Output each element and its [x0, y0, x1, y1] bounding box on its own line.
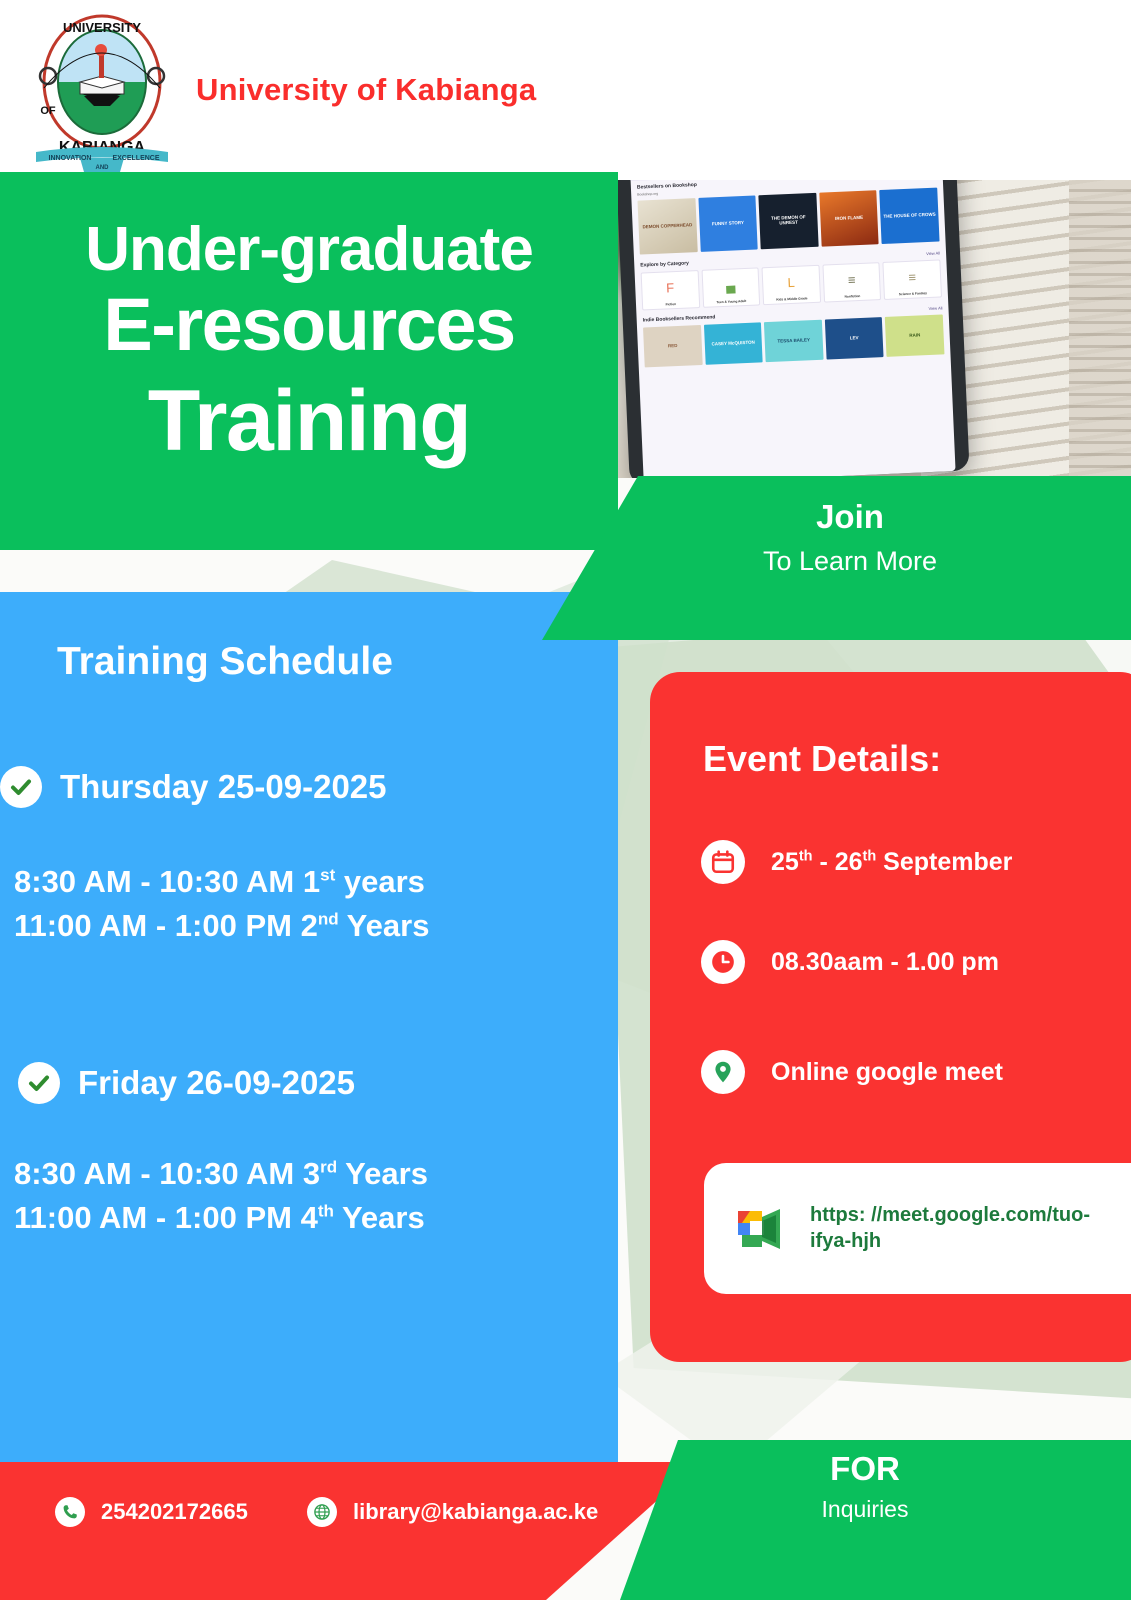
event-time-text: 08.30aam - 1.00 pm [771, 948, 999, 977]
contact-email[interactable]: library@kabianga.ac.ke [307, 1497, 598, 1527]
university-name: University of Kabianga [196, 72, 536, 108]
schedule-times-friday: 8:30 AM - 10:30 AM 3rd Years 11:00 AM - … [14, 1152, 428, 1240]
for-label: FOR [700, 1450, 1030, 1488]
explore-category-title: Explore by Category [640, 260, 689, 268]
title-line-1: Under-graduate [0, 214, 618, 285]
schedule-day-thursday: Thursday 25-09-2025 [0, 766, 387, 808]
meet-link-card[interactable]: https: //meet.google.com/tuo-ifya-hjh [704, 1163, 1131, 1294]
join-heading: Join [640, 498, 1060, 536]
check-icon [0, 766, 42, 808]
svg-text:EXCELLENCE: EXCELLENCE [112, 155, 159, 162]
schedule-times-thursday: 8:30 AM - 10:30 AM 1st years 11:00 AM - … [14, 860, 429, 948]
google-meet-icon [734, 1207, 788, 1251]
title-line-2: E-resources [0, 282, 618, 367]
event-date-text: 25th - 26th September [771, 848, 1012, 877]
calendar-icon [701, 840, 745, 884]
list-item: ≡Nonfiction [822, 262, 881, 302]
book-cover: LEV [825, 317, 884, 359]
check-icon [18, 1062, 60, 1104]
location-pin-icon [701, 1050, 745, 1094]
meet-link-text[interactable]: https: //meet.google.com/tuo-ifya-hjh [810, 1203, 1110, 1254]
schedule-heading: Training Schedule [57, 640, 393, 684]
session-line: 11:00 AM - 1:00 PM 4th Years [14, 1196, 428, 1240]
inquiries-content: FOR Inquiries [700, 1450, 1030, 1523]
inquiries-label: Inquiries [700, 1496, 1030, 1523]
list-item: ≡Science & Fantasy [883, 259, 942, 299]
day-label: Friday 26-09-2025 [78, 1064, 355, 1102]
event-row-date: 25th - 26th September [701, 840, 1012, 884]
session-line: 11:00 AM - 1:00 PM 2nd Years [14, 904, 429, 948]
session-line: 8:30 AM - 10:30 AM 1st years [14, 860, 429, 904]
book-cover: RAIN [885, 314, 944, 356]
list-item: LKids & Middle Grade [762, 265, 821, 305]
bestsellers-title: Bestsellers on Bookshop [637, 182, 697, 191]
phone-number: 254202172665 [101, 1499, 248, 1525]
day-label: Thursday 25-09-2025 [60, 768, 387, 806]
svg-text:AND: AND [96, 165, 110, 171]
event-row-location: Online google meet [701, 1050, 1003, 1094]
event-details-heading: Event Details: [703, 738, 941, 780]
globe-icon [307, 1497, 337, 1527]
explore-view-all: View All [926, 250, 940, 256]
poster-root: 5:09 PM Tue Oct 22 86% Continue Reading … [0, 0, 1131, 1600]
book-cover: IRON FLAME [819, 190, 879, 246]
schedule-panel [0, 592, 618, 1462]
book-cover: DEMON COPPERHEAD [637, 198, 697, 254]
phone-icon [55, 1497, 85, 1527]
clock-icon [701, 940, 745, 984]
book-cover: RED [643, 325, 702, 367]
join-banner-content: Join To Learn More [640, 498, 1060, 577]
event-location-text: Online google meet [771, 1058, 1003, 1087]
book-cover: TESSA BAILEY [764, 320, 823, 362]
list-item: ▄Teen & Young Adult [701, 267, 760, 307]
contact-phone[interactable]: 254202172665 [55, 1497, 248, 1527]
book-cover: THE DEMON OF UNREST [759, 193, 819, 249]
event-row-time: 08.30aam - 1.00 pm [701, 940, 999, 984]
session-line: 8:30 AM - 10:30 AM 3rd Years [14, 1152, 428, 1196]
schedule-day-friday: Friday 26-09-2025 [18, 1062, 355, 1104]
logo-text-mid: OF [40, 105, 56, 117]
title-line-3: Training [0, 372, 618, 471]
email-address: library@kabianga.ac.ke [353, 1499, 598, 1525]
book-cover: FUNNY STORY [698, 195, 758, 251]
list-item: FFiction [641, 270, 700, 310]
title-block: Under-graduate E-resources Training [0, 172, 618, 550]
book-cover: CASEY McQUISTON [704, 322, 763, 364]
poster-header: UNIVERSITY OF KABIANGA INNOVATION AND EX… [0, 0, 1131, 180]
university-logo: UNIVERSITY OF KABIANGA INNOVATION AND EX… [22, 10, 182, 175]
svg-text:INNOVATION: INNOVATION [49, 155, 92, 162]
recommend-view-all: View All [928, 305, 942, 311]
book-cover: THE HOUSE OF CROWS [880, 188, 940, 244]
logo-text-top: UNIVERSITY [63, 20, 141, 35]
join-subheading: To Learn More [640, 546, 1060, 577]
